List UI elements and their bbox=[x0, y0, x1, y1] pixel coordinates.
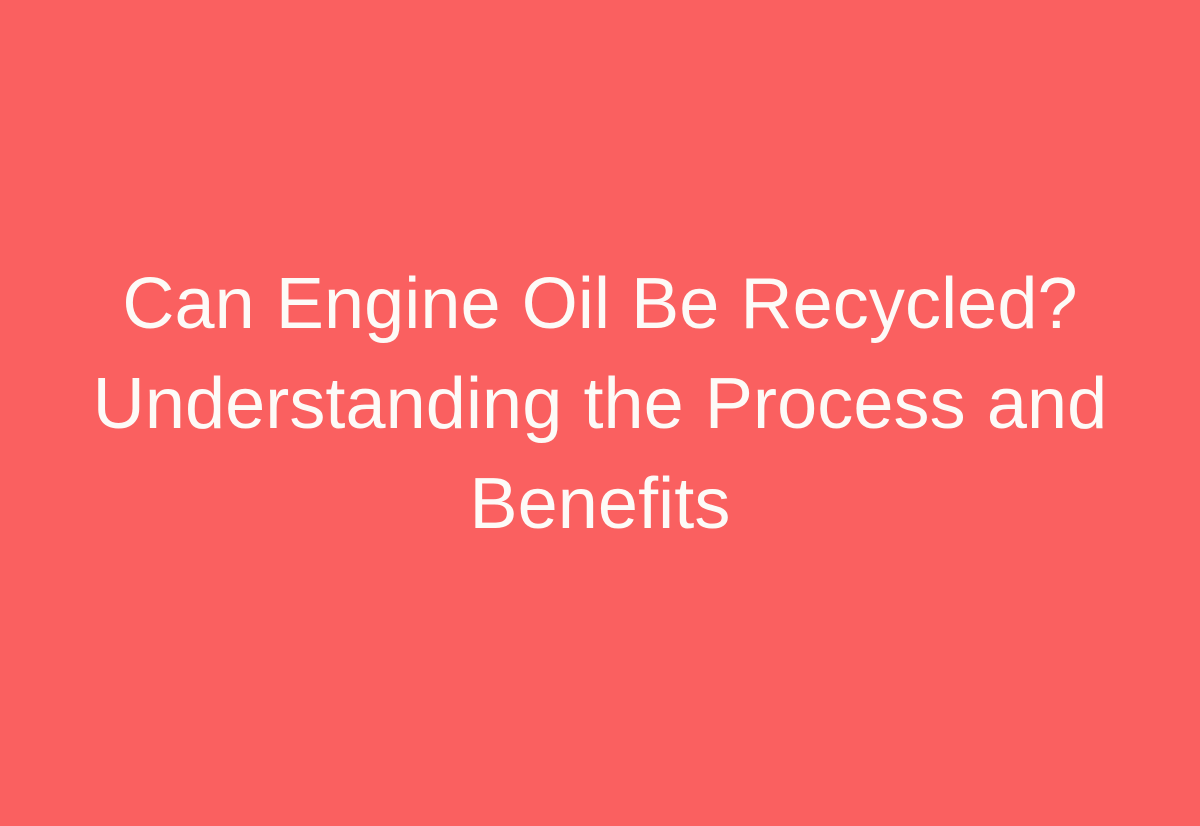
page-title: Can Engine Oil Be Recycled? Understandin… bbox=[70, 254, 1130, 554]
headline-line-3: Benefits bbox=[70, 454, 1130, 554]
share-card: Can Engine Oil Be Recycled? Understandin… bbox=[0, 0, 1200, 826]
headline-block: Can Engine Oil Be Recycled? Understandin… bbox=[70, 254, 1130, 554]
headline-line-2: Understanding the Process and bbox=[70, 354, 1130, 454]
headline-line-1: Can Engine Oil Be Recycled? bbox=[70, 254, 1130, 354]
